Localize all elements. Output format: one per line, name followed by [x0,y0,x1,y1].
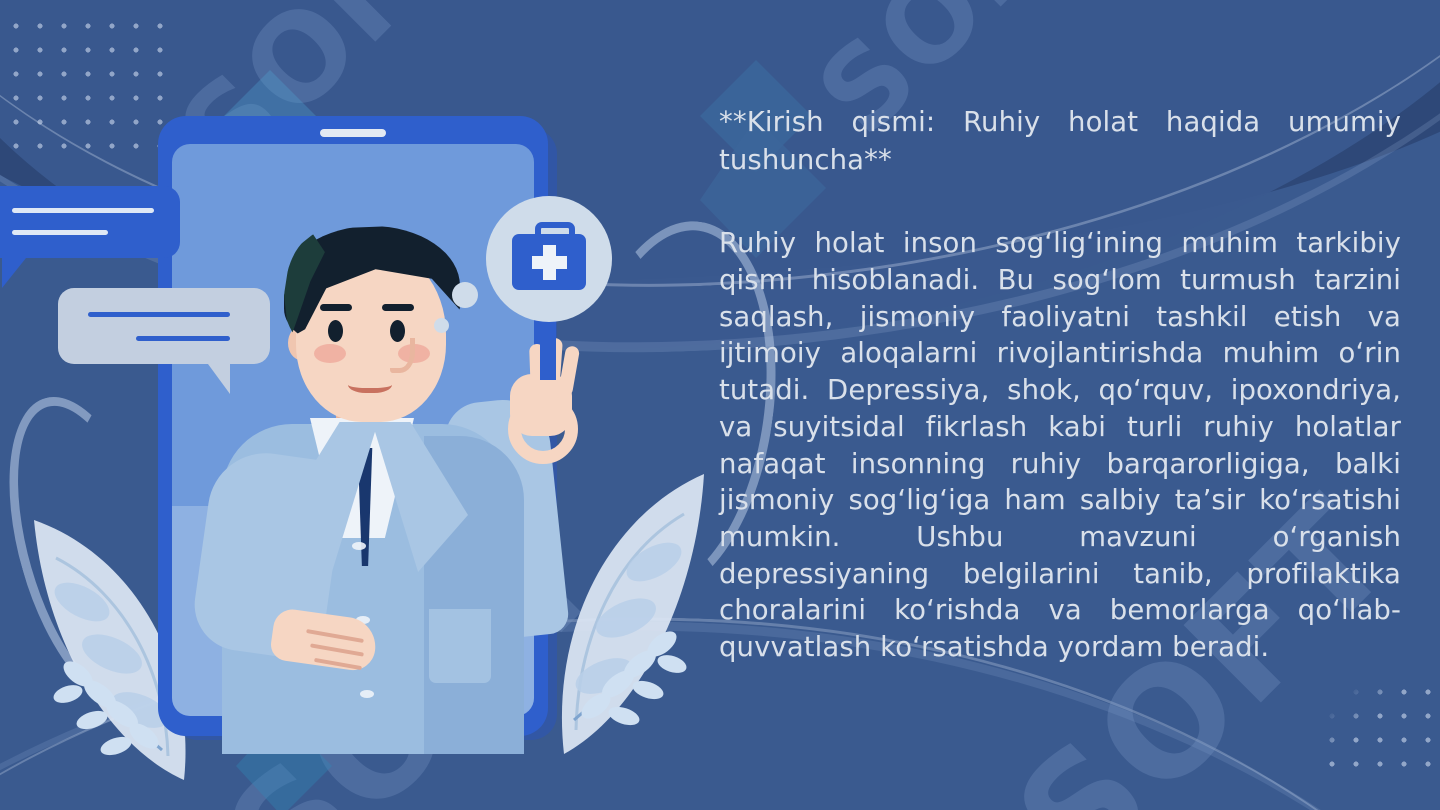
doctor-eyebrow [382,304,414,311]
chat-line [136,336,230,341]
chat-line [12,230,108,235]
doctor-mouth [348,372,392,393]
doctor-cheek [314,344,346,363]
chat-bubble-gray [58,288,270,364]
coat-button [360,690,374,698]
slide-heading: **Kirish qismi: Ruhiy holat haqida umumi… [719,104,1401,179]
doctor-eye [328,320,343,342]
chat-bubble-tail [208,364,230,394]
text-content-panel: **Kirish qismi: Ruhiy holat haqida umumi… [719,104,1401,666]
kit-badge-stem [540,314,556,380]
chat-line [88,312,230,317]
coat-pocket [426,606,494,686]
phone-speaker-icon [320,129,386,137]
coat-button [352,542,366,550]
doctor-eyebrow [320,304,352,311]
presentation-slide: SOFT SOFT SOFT SOFT [0,0,1440,810]
chat-line [12,208,154,213]
kit-cross-horizontal [532,256,567,269]
ok-ring [508,394,578,464]
decorative-bubble-dot [434,318,449,333]
chat-bubble-tail [2,258,26,288]
chat-bubble-blue [0,186,180,258]
dot-grid-bottom-right [1320,680,1440,772]
slide-paragraph: Ruhiy holat inson sog‘lig‘ining muhim ta… [719,225,1401,665]
decorative-bubble-dot [452,282,478,308]
hero-illustration [0,0,710,810]
